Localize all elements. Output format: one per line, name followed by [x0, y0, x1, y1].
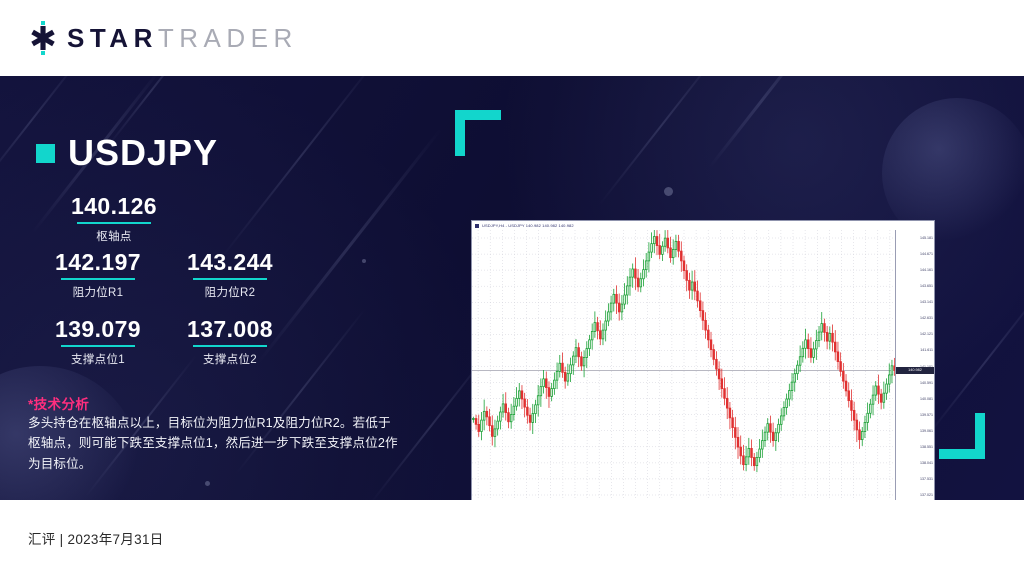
price-tick-label: 139.061: [920, 429, 933, 433]
chart-title-marker-icon: [475, 224, 479, 228]
level-underline: [61, 345, 135, 347]
main-stage: USDJPY 140.126 枢轴点 142.197 阻力位R1 143.244…: [0, 76, 1024, 500]
page-footer: 汇评 | 2023年7月31日: [0, 500, 1024, 576]
price-tick-label: 138.041: [920, 461, 933, 465]
level-resistance-1: 142.197 阻力位R1: [32, 250, 164, 300]
analysis-heading: *技术分析: [28, 393, 89, 413]
level-underline: [61, 278, 135, 280]
price-tick-label: 137.531: [920, 477, 933, 481]
level-label: 支撑点位1: [32, 351, 164, 367]
chart-title-text: USDJPY,H4 - USDJPY 140.982 140.982 140.9…: [482, 223, 574, 228]
corner-bracket-top-left: [455, 110, 501, 156]
price-tick-label: 137.021: [920, 493, 933, 497]
footer-caption: 汇评 | 2023年7月31日: [28, 528, 164, 548]
level-label: 枢轴点: [54, 228, 174, 244]
bg-streak: [599, 76, 724, 205]
price-tick-label: 140.591: [920, 381, 933, 385]
price-tick-label: 144.161: [920, 268, 933, 272]
page-header: ✱ STARTRADER: [0, 0, 1024, 76]
levels-grid: 142.197 阻力位R1 143.244 阻力位R2 139.079 支撑点位…: [32, 250, 302, 384]
asterisk-logo-icon: ✱: [28, 21, 58, 55]
price-chart[interactable]: USDJPY,H4 - USDJPY 140.982 140.982 140.9…: [471, 220, 935, 500]
level-label: 支撑点位2: [164, 351, 296, 367]
levels-row-resistance: 142.197 阻力位R1 143.244 阻力位R2: [32, 250, 302, 317]
price-tick-label: 139.571: [920, 413, 933, 417]
price-tick-label: 138.551: [920, 445, 933, 449]
level-pivot: 140.126 枢轴点: [54, 194, 174, 244]
analysis-body: 多头持仓在枢轴点以上，目标位为阻力位R1及阻力位R2。若低于枢轴点，则可能下跌至…: [28, 413, 400, 474]
brand-name-light: TRADER: [158, 23, 298, 53]
level-underline: [193, 345, 267, 347]
price-tick-label: 144.671: [920, 252, 933, 256]
instrument-symbol: USDJPY: [68, 132, 218, 174]
price-tick-label: 142.631: [920, 316, 933, 320]
bg-dot: [664, 187, 673, 196]
chart-price-axis[interactable]: 145.181144.671144.161143.651143.141142.6…: [895, 230, 934, 500]
corner-bracket-bottom-right: [939, 413, 985, 459]
level-value: 142.197: [32, 250, 164, 275]
brand-logo[interactable]: ✱ STARTRADER: [28, 21, 298, 55]
square-marker-icon: [36, 144, 55, 163]
level-value: 143.244: [164, 250, 296, 275]
level-label: 阻力位R2: [164, 284, 296, 300]
bg-dot: [205, 481, 210, 486]
price-tick-label: 143.141: [920, 300, 933, 304]
analysis-heading-text: 技术分析: [34, 397, 90, 412]
level-value: 140.126: [54, 194, 174, 219]
asterisk-glyph: ✱: [28, 26, 58, 52]
levels-row-support: 139.079 支撑点位1 137.008 支撑点位2: [32, 317, 302, 384]
level-underline: [77, 222, 151, 224]
level-label: 阻力位R1: [32, 284, 164, 300]
chart-title-bar: USDJPY,H4 - USDJPY 140.982 140.982 140.9…: [472, 221, 934, 230]
logo-pip-bottom: [41, 51, 45, 55]
level-support-1: 139.079 支撑点位1: [32, 317, 164, 367]
current-price-tag: 140.982: [896, 367, 934, 374]
brand-wordmark: STARTRADER: [67, 23, 298, 54]
bracket-arm-vertical: [455, 110, 465, 156]
level-resistance-2: 143.244 阻力位R2: [164, 250, 296, 300]
price-tick-label: 140.081: [920, 397, 933, 401]
level-support-2: 137.008 支撑点位2: [164, 317, 296, 367]
chart-plot-area: [472, 230, 896, 500]
instrument-heading: USDJPY: [36, 132, 218, 174]
level-value: 137.008: [164, 317, 296, 342]
price-tick-label: 142.121: [920, 332, 933, 336]
price-tick-label: 141.611: [920, 348, 933, 352]
level-underline: [193, 278, 267, 280]
brand-name-bold: STAR: [67, 23, 158, 53]
bg-streak: [708, 76, 815, 169]
level-value: 139.079: [32, 317, 164, 342]
price-tick-label: 145.181: [920, 236, 933, 240]
bg-dot: [362, 259, 366, 263]
candlestick-series: [472, 230, 896, 500]
bracket-arm-vertical: [975, 413, 985, 459]
price-tick-label: 143.651: [920, 284, 933, 288]
